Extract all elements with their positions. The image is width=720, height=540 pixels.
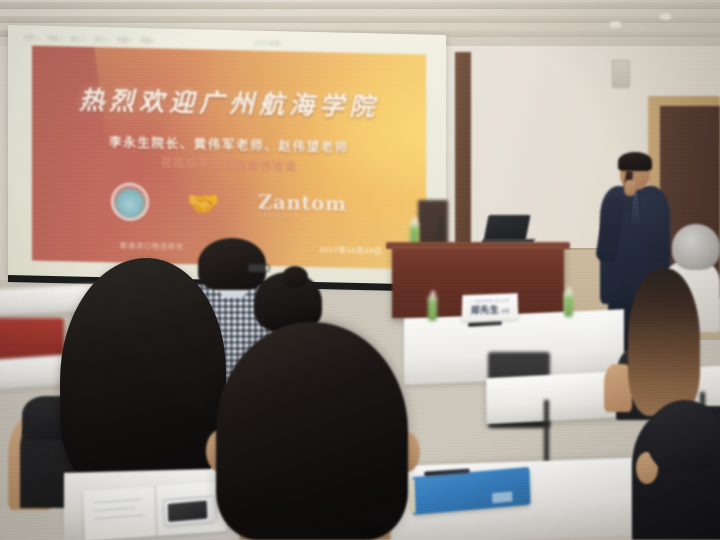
dark-figure-head — [648, 400, 720, 472]
elder-hair — [672, 224, 720, 270]
presentation-slide: 热烈欢迎广州航海学院 李永生院长、黄伟军老师、赵伟望老师 莅临指导及校企合作洽谈… — [32, 46, 426, 270]
ceiling-light-icon — [660, 14, 671, 19]
notebook-label — [492, 491, 512, 503]
desk-leg — [544, 400, 549, 464]
wall-speaker-icon — [612, 60, 630, 88]
slide-footer-org: 鹏通进口物流研究 — [120, 241, 184, 252]
laptop-screen[interactable] — [483, 215, 530, 241]
glasses-icon — [248, 264, 270, 272]
microphone-stand — [440, 218, 442, 244]
menu-item-home[interactable]: 开始 — [47, 35, 61, 42]
menu-item-design[interactable]: 设计 — [94, 36, 108, 43]
name-card-role: 经理 — [501, 308, 509, 314]
menu-item-slideshow[interactable]: 幻灯片放映 — [254, 40, 281, 48]
green-bottle[interactable] — [428, 296, 437, 321]
presenter-hand — [624, 180, 636, 196]
menu-item-transitions[interactable]: 切换 — [117, 37, 131, 44]
presenter-hair — [618, 152, 652, 171]
table-name-card: 广州航海学院 校企合作 郑先生 经理 — [462, 293, 519, 321]
ombre-hair — [628, 268, 700, 416]
woman-long-hair — [60, 258, 226, 494]
menu-item-insert[interactable]: 插入 — [71, 35, 85, 42]
brand-logo-label: Zantom — [258, 191, 347, 213]
ceiling-light-icon — [610, 22, 621, 27]
phone-screen[interactable] — [168, 501, 208, 522]
hair-bun — [282, 266, 308, 288]
front-center-head — [216, 322, 408, 540]
white-smartphone[interactable] — [164, 496, 217, 526]
menu-item-animations[interactable]: 动画 — [141, 37, 155, 44]
brand-logo-sublabel: LOGISTICS — [258, 213, 347, 220]
brand-logo: Zantom LOGISTICS — [258, 191, 347, 220]
university-seal-logo — [111, 182, 149, 221]
slide-logo-row: 🤝 Zantom LOGISTICS — [32, 181, 426, 228]
green-bottle[interactable] — [564, 292, 573, 317]
door-left-edge — [455, 52, 471, 262]
av-equipment — [418, 200, 448, 246]
photo-scene: 文件 开始 插入 设计 切换 动画 幻灯片放映 热烈欢迎广州航海学院 李永生院长… — [0, 0, 720, 540]
slide-footer-date: 2017年10月25日 — [320, 244, 382, 256]
name-card-name: 郑先生 — [471, 303, 500, 317]
handshake-icon: 🤝 — [187, 190, 219, 217]
slide-title: 热烈欢迎广州航海学院 — [32, 80, 426, 125]
menu-item-file[interactable]: 文件 — [24, 34, 38, 41]
